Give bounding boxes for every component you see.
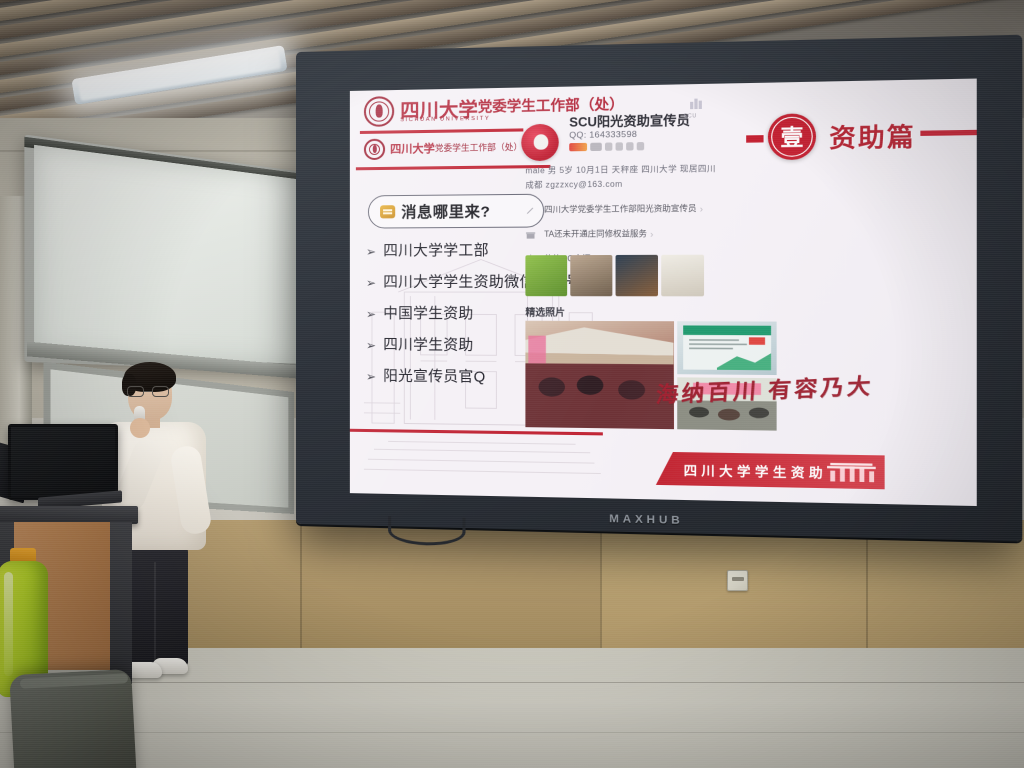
chevron-right-icon: › xyxy=(700,203,703,213)
small-corner-logo-caption: SCU xyxy=(684,113,697,119)
qq-row-gift[interactable]: TA还未开通庄同修权益服务 › xyxy=(525,228,647,240)
presentation-slide: 四川大学 SICHUAN UNIVERSITY 党委学生工作部（处） 四川大学 … xyxy=(350,79,977,507)
bullet-label: 四川学生资助 xyxy=(383,333,473,355)
bullet-marker-icon: ➢ xyxy=(366,339,376,351)
qq-badge-dot xyxy=(637,142,644,150)
qq-number: QQ: 164333598 xyxy=(569,129,637,140)
sichuan-gate-icon xyxy=(827,459,876,485)
qq-badge-row xyxy=(569,142,644,151)
whiteboard-surface[interactable] xyxy=(34,145,296,364)
question-bubble-label: 消息哪里来? xyxy=(401,200,490,222)
qq-avatar xyxy=(521,124,558,161)
footer-banner: 四川大学学生资助 xyxy=(656,452,885,490)
monitor-screen[interactable] xyxy=(8,424,118,500)
university-name-en: SICHUAN UNIVERSITY xyxy=(400,116,490,124)
power-outlet[interactable] xyxy=(727,570,748,591)
eyeglasses-icon xyxy=(127,386,169,397)
bullet-marker-icon: ➢ xyxy=(366,246,376,258)
whiteboard xyxy=(24,134,304,372)
qq-row-signature[interactable]: 四川大学党委学生工作部阳光资助宣传员 › xyxy=(525,203,696,216)
section-title: 资助篇 xyxy=(829,116,916,154)
footer-banner-label: 四川大学学生资助 xyxy=(684,459,827,481)
bottle-highlight xyxy=(4,572,13,676)
presenter-hand xyxy=(130,418,150,438)
qzone-photo-strip xyxy=(525,255,704,297)
photos-section-title: 精选照片 xyxy=(525,304,565,318)
scu-seal-logo-small xyxy=(364,139,385,160)
university-name-cn-small: 四川大学 xyxy=(390,140,435,157)
bullet-label: 阳光宣传员官Q xyxy=(383,365,485,387)
bullet-marker-icon: ➢ xyxy=(366,308,376,320)
chevron-right-icon: › xyxy=(650,228,653,238)
section-dash xyxy=(746,135,763,143)
qq-badge-dot xyxy=(626,142,633,150)
thumbnail-photo[interactable] xyxy=(661,255,704,297)
qq-badge-dot xyxy=(616,142,623,150)
event-photo-tent-crowd[interactable] xyxy=(525,321,673,429)
lecture-hall-photo: MAXHUB xyxy=(0,0,1024,768)
section-numeral-seal: 壹 xyxy=(768,113,816,160)
bullet-label: 中国学生资助 xyxy=(383,302,473,324)
thumbnail-photo[interactable] xyxy=(616,255,658,296)
display-screen[interactable]: 四川大学 SICHUAN UNIVERSITY 党委学生工作部（处） 四川大学 … xyxy=(350,79,977,507)
pen-icon xyxy=(525,205,535,215)
thumbnail-photo[interactable] xyxy=(570,255,612,296)
qq-level-badge xyxy=(569,143,587,151)
event-photo-poster-board[interactable] xyxy=(677,321,777,374)
question-bubble: 消息哪里来? xyxy=(368,194,544,229)
qq-badge-dot xyxy=(605,142,612,150)
megaphone-icon xyxy=(380,205,395,218)
lectern-side-right xyxy=(110,522,132,684)
qq-row-label: 四川大学党委学生工作部阳光资助宣传员 xyxy=(544,203,696,216)
qq-meta-line-1: male 男 5岁 10月1日 天秤座 四川大学 现居四川 xyxy=(525,163,716,177)
thumbnail-photo[interactable] xyxy=(525,255,567,296)
qq-row-label: TA还未开通庄同修权益服务 xyxy=(544,228,647,240)
qq-vip-badge xyxy=(590,143,602,151)
gift-icon xyxy=(525,229,535,239)
small-corner-logo-icon xyxy=(688,94,705,111)
sub-department-title: 党委学生工作部（处） xyxy=(435,141,522,154)
section-rule xyxy=(920,130,976,136)
maxhub-display[interactable]: MAXHUB xyxy=(296,35,1022,542)
scu-seal-logo xyxy=(364,96,394,127)
bullet-label: 四川大学学工部 xyxy=(383,239,489,261)
qq-nickname: SCU阳光资助宣传员 xyxy=(569,109,690,131)
qq-meta-line-2: 成都 zgzzxcy@163.com xyxy=(525,179,622,191)
bullet-marker-icon: ➢ xyxy=(366,371,376,383)
bullet-marker-icon: ➢ xyxy=(366,277,376,289)
